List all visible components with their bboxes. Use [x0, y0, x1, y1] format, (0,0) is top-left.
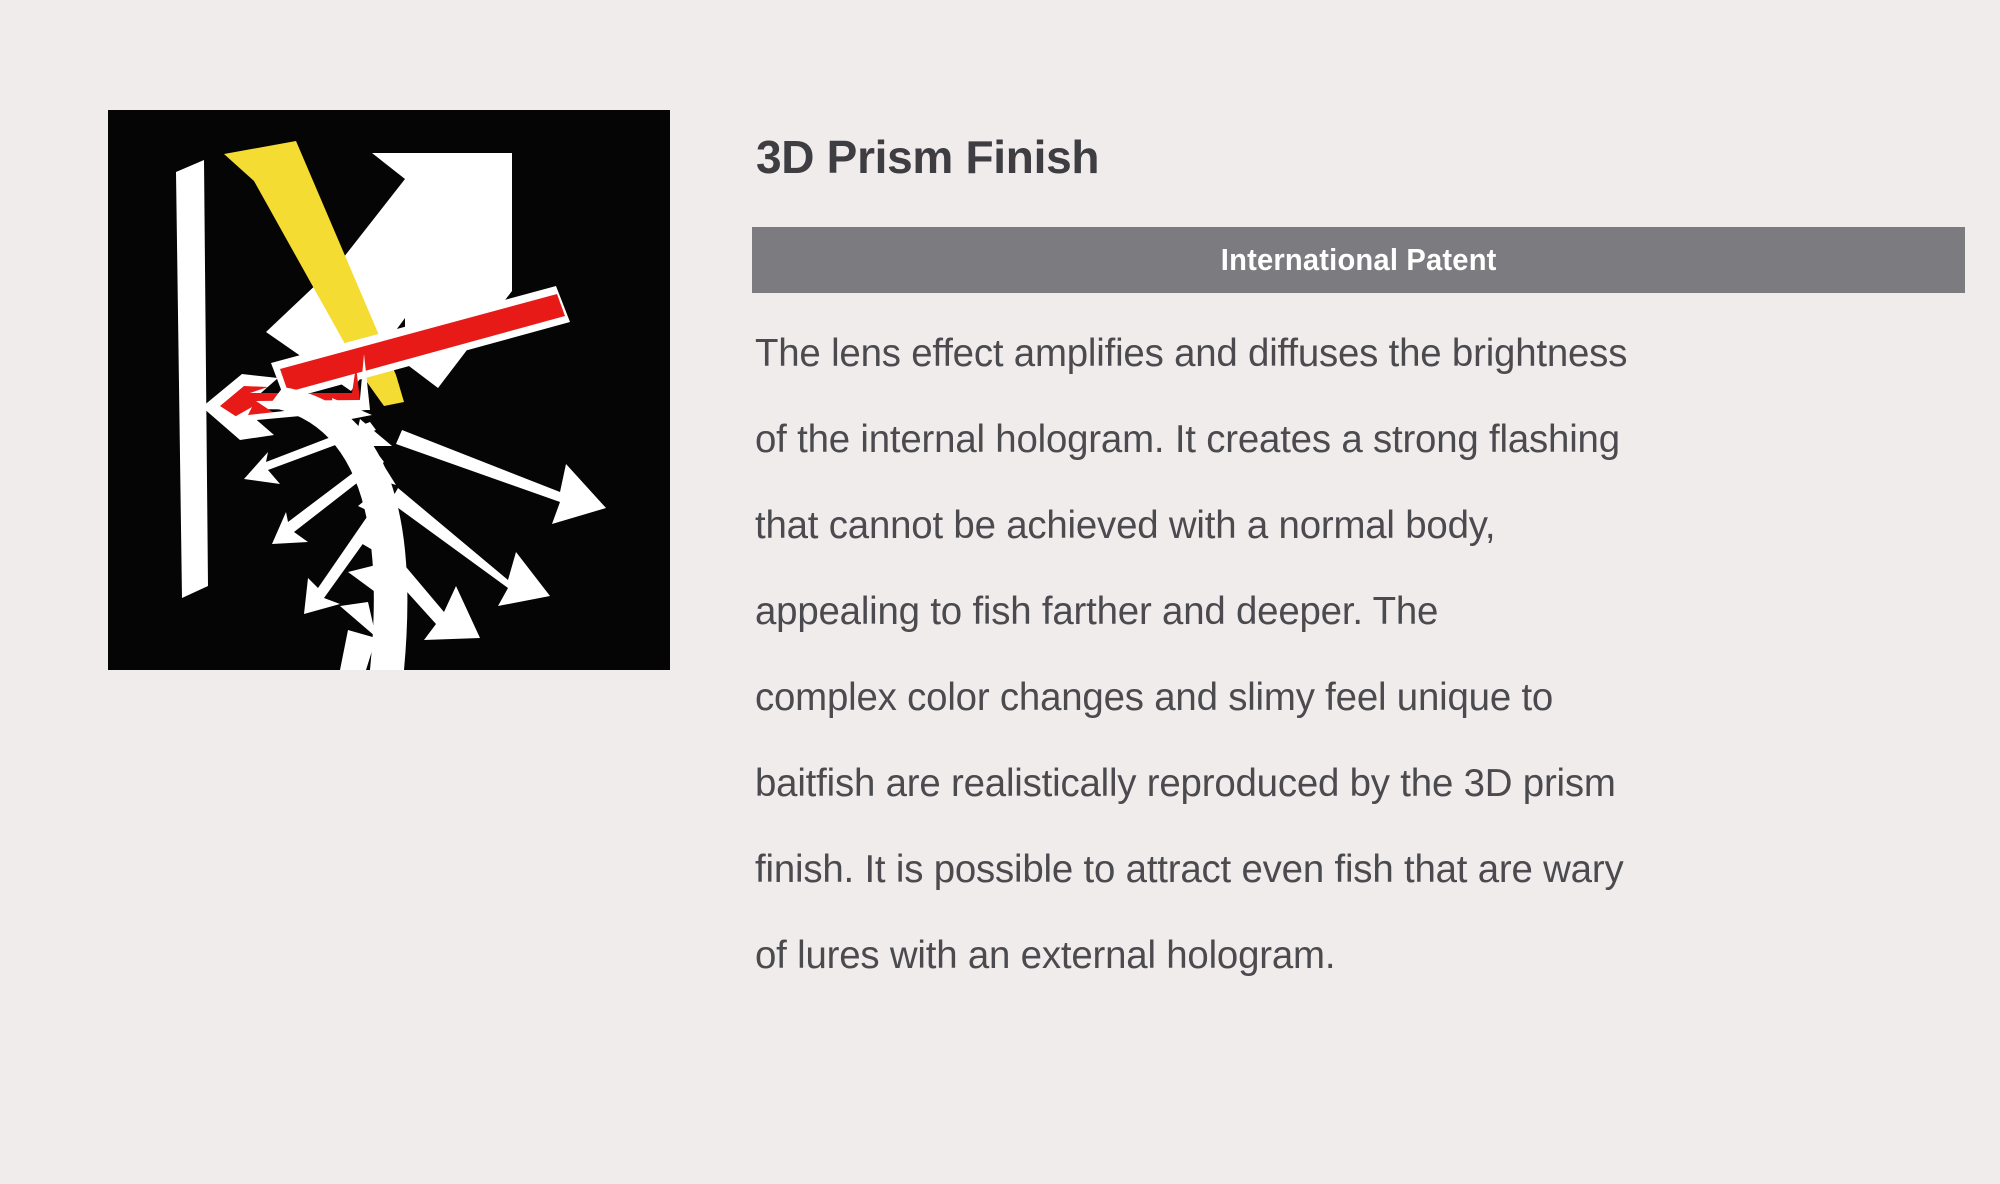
prism-diagram-svg — [108, 110, 670, 670]
patent-banner-label: International Patent — [1221, 242, 1497, 278]
description-line: of lures with an external hologram. — [755, 913, 1962, 999]
prism-diagram-panel — [108, 110, 670, 670]
description-line: that cannot be achieved with a normal bo… — [755, 483, 1962, 569]
description-line: appealing to fish farther and deeper. Th… — [755, 569, 1962, 655]
description-line: The lens effect amplifies and diffuses t… — [755, 311, 1962, 397]
description-line: baitfish are realistically reproduced by… — [755, 741, 1962, 827]
description-line: finish. It is possible to attract even f… — [755, 827, 1962, 913]
patent-banner: International Patent — [752, 227, 1965, 293]
feature-description: The lens effect amplifies and diffuses t… — [752, 311, 1980, 999]
description-line: of the internal hologram. It creates a s… — [755, 397, 1962, 483]
feature-content-column: 3D Prism Finish International Patent The… — [752, 110, 1965, 999]
page-title: 3D Prism Finish — [752, 110, 1965, 183]
description-line: complex color changes and slimy feel uni… — [755, 655, 1962, 741]
page-root: 3D Prism Finish International Patent The… — [0, 0, 2000, 1184]
